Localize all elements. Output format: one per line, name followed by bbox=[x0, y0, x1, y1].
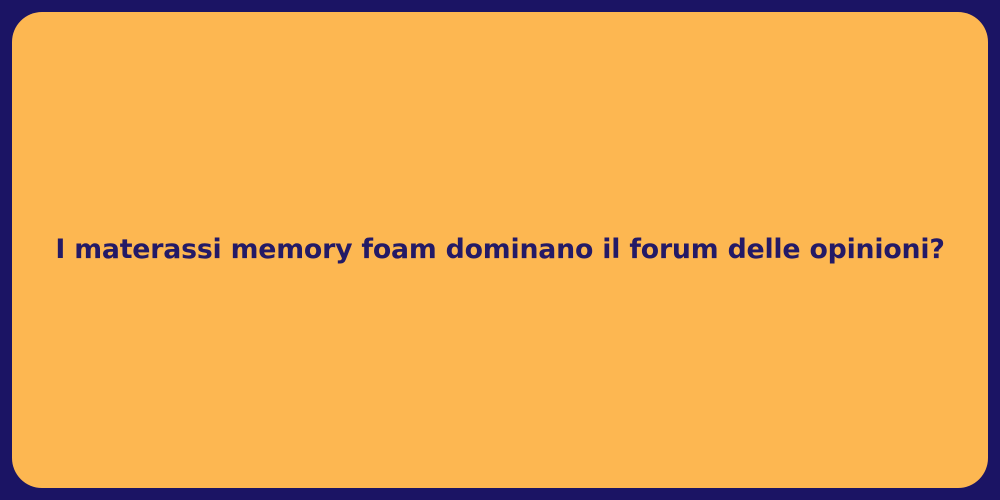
page-title: I materassi memory foam dominano il foru… bbox=[55, 233, 944, 266]
banner-frame: I materassi memory foam dominano il foru… bbox=[0, 0, 1000, 500]
headline-card: I materassi memory foam dominano il foru… bbox=[12, 12, 988, 488]
